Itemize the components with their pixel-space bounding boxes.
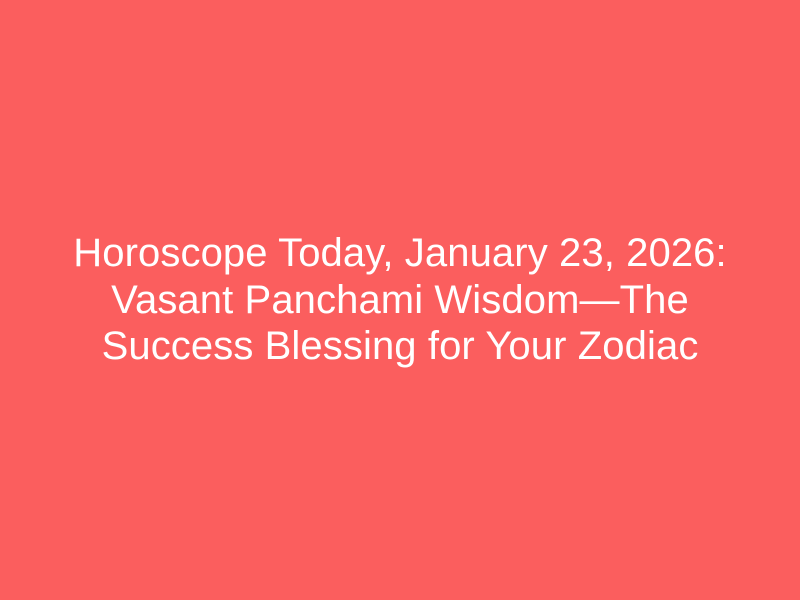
hero-content: Horoscope Today, January 23, 2026: Vasan… <box>55 230 745 370</box>
page-title: Horoscope Today, January 23, 2026: Vasan… <box>55 230 745 370</box>
hero-card: Horoscope Today, January 23, 2026: Vasan… <box>0 0 800 600</box>
